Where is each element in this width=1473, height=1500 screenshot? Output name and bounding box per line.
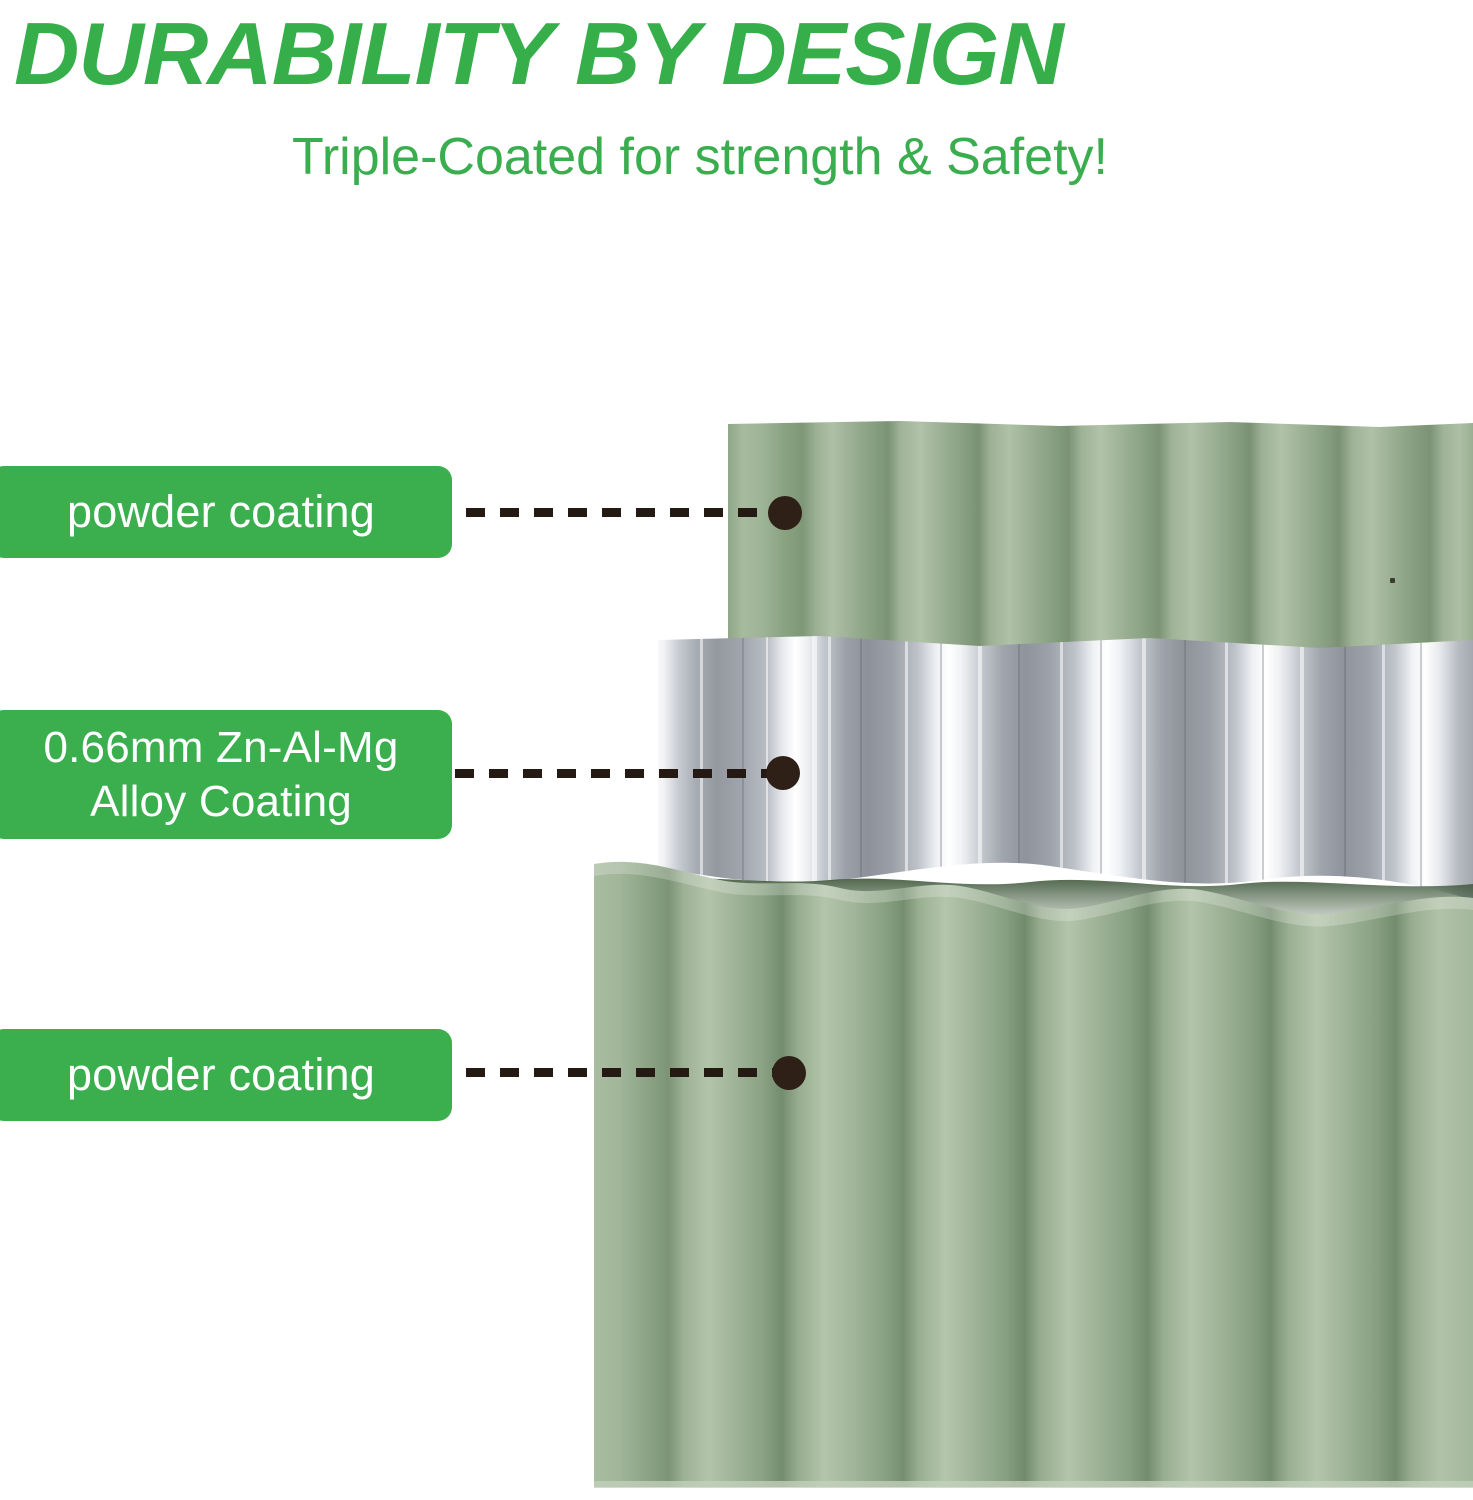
leader-line-powder-coating-bottom	[466, 1068, 778, 1077]
callout-badge-alloy-coating[interactable]: 0.66mm Zn-Al-Mg Alloy Coating	[0, 710, 452, 839]
infographic-canvas: DURABILITY BY DESIGN Triple-Coated for s…	[0, 0, 1473, 1500]
callout-badge-powder-coating-top[interactable]: powder coating	[0, 466, 452, 558]
callout-alloy-line-1: 0.66mm Zn-Al-Mg	[43, 723, 398, 772]
surface-speck	[1390, 578, 1395, 583]
leader-dot-powder-coating-top	[768, 496, 802, 530]
leader-line-powder-coating-top	[466, 508, 776, 517]
callout-alloy-line-2: Alloy Coating	[90, 777, 352, 826]
leader-line-alloy-coating	[455, 769, 777, 778]
bottom-green-panel	[594, 862, 1473, 1488]
callout-badge-powder-coating-bottom[interactable]: powder coating	[0, 1029, 452, 1121]
leader-dot-powder-coating-bottom	[772, 1056, 806, 1090]
leader-dot-alloy-coating	[766, 756, 800, 790]
